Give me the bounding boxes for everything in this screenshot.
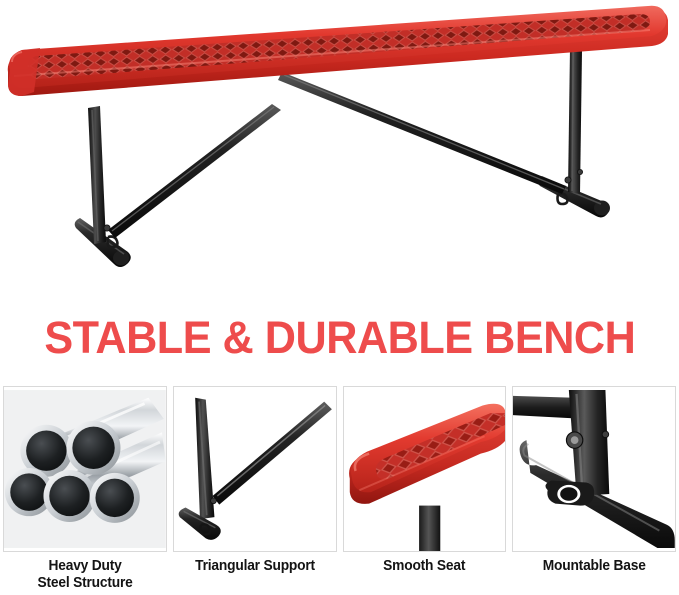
- caption-line-1: Heavy Duty: [48, 558, 121, 574]
- bench-illustration: [0, 0, 679, 300]
- tube-bottom-mid: [43, 470, 95, 522]
- feature-mountable-base[interactable]: Mountable Base: [509, 386, 679, 595]
- feature-thumbnail-triangular-support[interactable]: [173, 386, 337, 552]
- hero-product-image: [0, 0, 679, 300]
- bolt-secondary: [602, 431, 609, 438]
- feature-caption-heavy-duty-steel-structure: Heavy Duty Steel Structure: [37, 558, 132, 592]
- mountable-base-illustration: [513, 387, 675, 551]
- smooth-seat-illustration: [344, 387, 506, 551]
- tube-bottom-right: [90, 473, 140, 523]
- feature-triangular-support[interactable]: Triangular Support: [170, 386, 340, 595]
- caption-line-1: Triangular Support: [195, 558, 315, 574]
- feature-caption-smooth-seat: Smooth Seat: [383, 558, 465, 575]
- triangular-support-illustration: [174, 387, 336, 551]
- seat-support-leg: [419, 506, 440, 551]
- bolt: [210, 498, 216, 504]
- feature-heavy-duty-steel-structure[interactable]: Heavy Duty Steel Structure: [0, 386, 170, 595]
- mounting-hole: [546, 481, 595, 506]
- caption-line-1: Mountable Base: [543, 558, 646, 574]
- caption-line-2: Steel Structure: [37, 575, 132, 592]
- feature-thumbnail-steel-tubes[interactable]: [3, 386, 167, 552]
- feature-caption-mountable-base: Mountable Base: [543, 558, 646, 575]
- tube-top-right: [67, 421, 121, 475]
- feature-thumbnail-mountable-base[interactable]: [512, 386, 676, 552]
- feature-caption-triangular-support: Triangular Support: [195, 558, 315, 575]
- feature-smooth-seat[interactable]: Smooth Seat: [340, 386, 510, 595]
- caption-line-1: Smooth Seat: [383, 558, 465, 574]
- bolt-icon: [567, 432, 583, 448]
- steel-tubes-illustration: [4, 387, 166, 551]
- page-title: STABLE & DURABLE BENCH: [44, 315, 635, 360]
- headline-banner: STABLE & DURABLE BENCH: [0, 306, 679, 368]
- feature-strip: Heavy Duty Steel Structure: [0, 386, 679, 595]
- feature-thumbnail-smooth-seat[interactable]: [343, 386, 507, 552]
